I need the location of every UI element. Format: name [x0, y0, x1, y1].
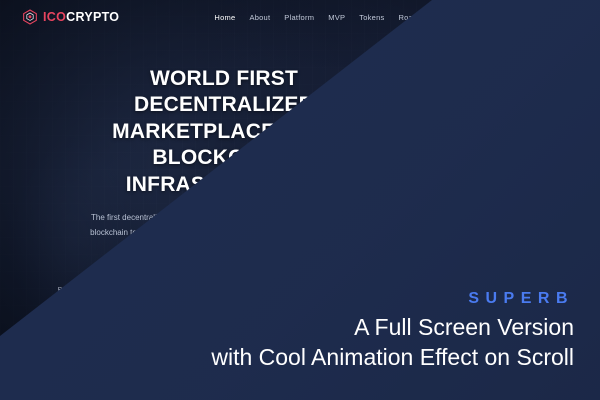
nav-item-mvp[interactable]: MVP	[328, 13, 345, 22]
caption-line-1: A Full Screen Version	[211, 313, 574, 342]
brand-text-ico: ICO	[43, 10, 66, 24]
nav-item-home[interactable]: Home	[214, 13, 235, 22]
hexagon-crypto-icon	[22, 9, 38, 25]
brand-text: ICOCRYPTO	[43, 11, 119, 24]
brand-logo[interactable]: ICOCRYPTO	[22, 9, 119, 25]
nav-item-platform[interactable]: Platform	[284, 13, 314, 22]
nav-label: About	[249, 13, 270, 22]
caption-eyebrow: SUPERB	[211, 291, 574, 307]
nav-item-about[interactable]: About	[249, 13, 270, 22]
brand-text-crypto: CRYPTO	[66, 10, 119, 24]
nav-label: MVP	[328, 13, 345, 22]
nav-label: Tokens	[359, 13, 384, 22]
promo-caption: SUPERB A Full Screen Version with Cool A…	[211, 291, 574, 372]
nav-label: Home	[214, 13, 235, 22]
caption-line-2: with Cool Animation Effect on Scroll	[211, 343, 574, 372]
nav-label: Platform	[284, 13, 314, 22]
ico-crypto-hero-screenshot: ICOCRYPTO Home About Platform MVP Tokens…	[0, 0, 600, 400]
nav-item-tokens[interactable]: Tokens	[359, 13, 384, 22]
